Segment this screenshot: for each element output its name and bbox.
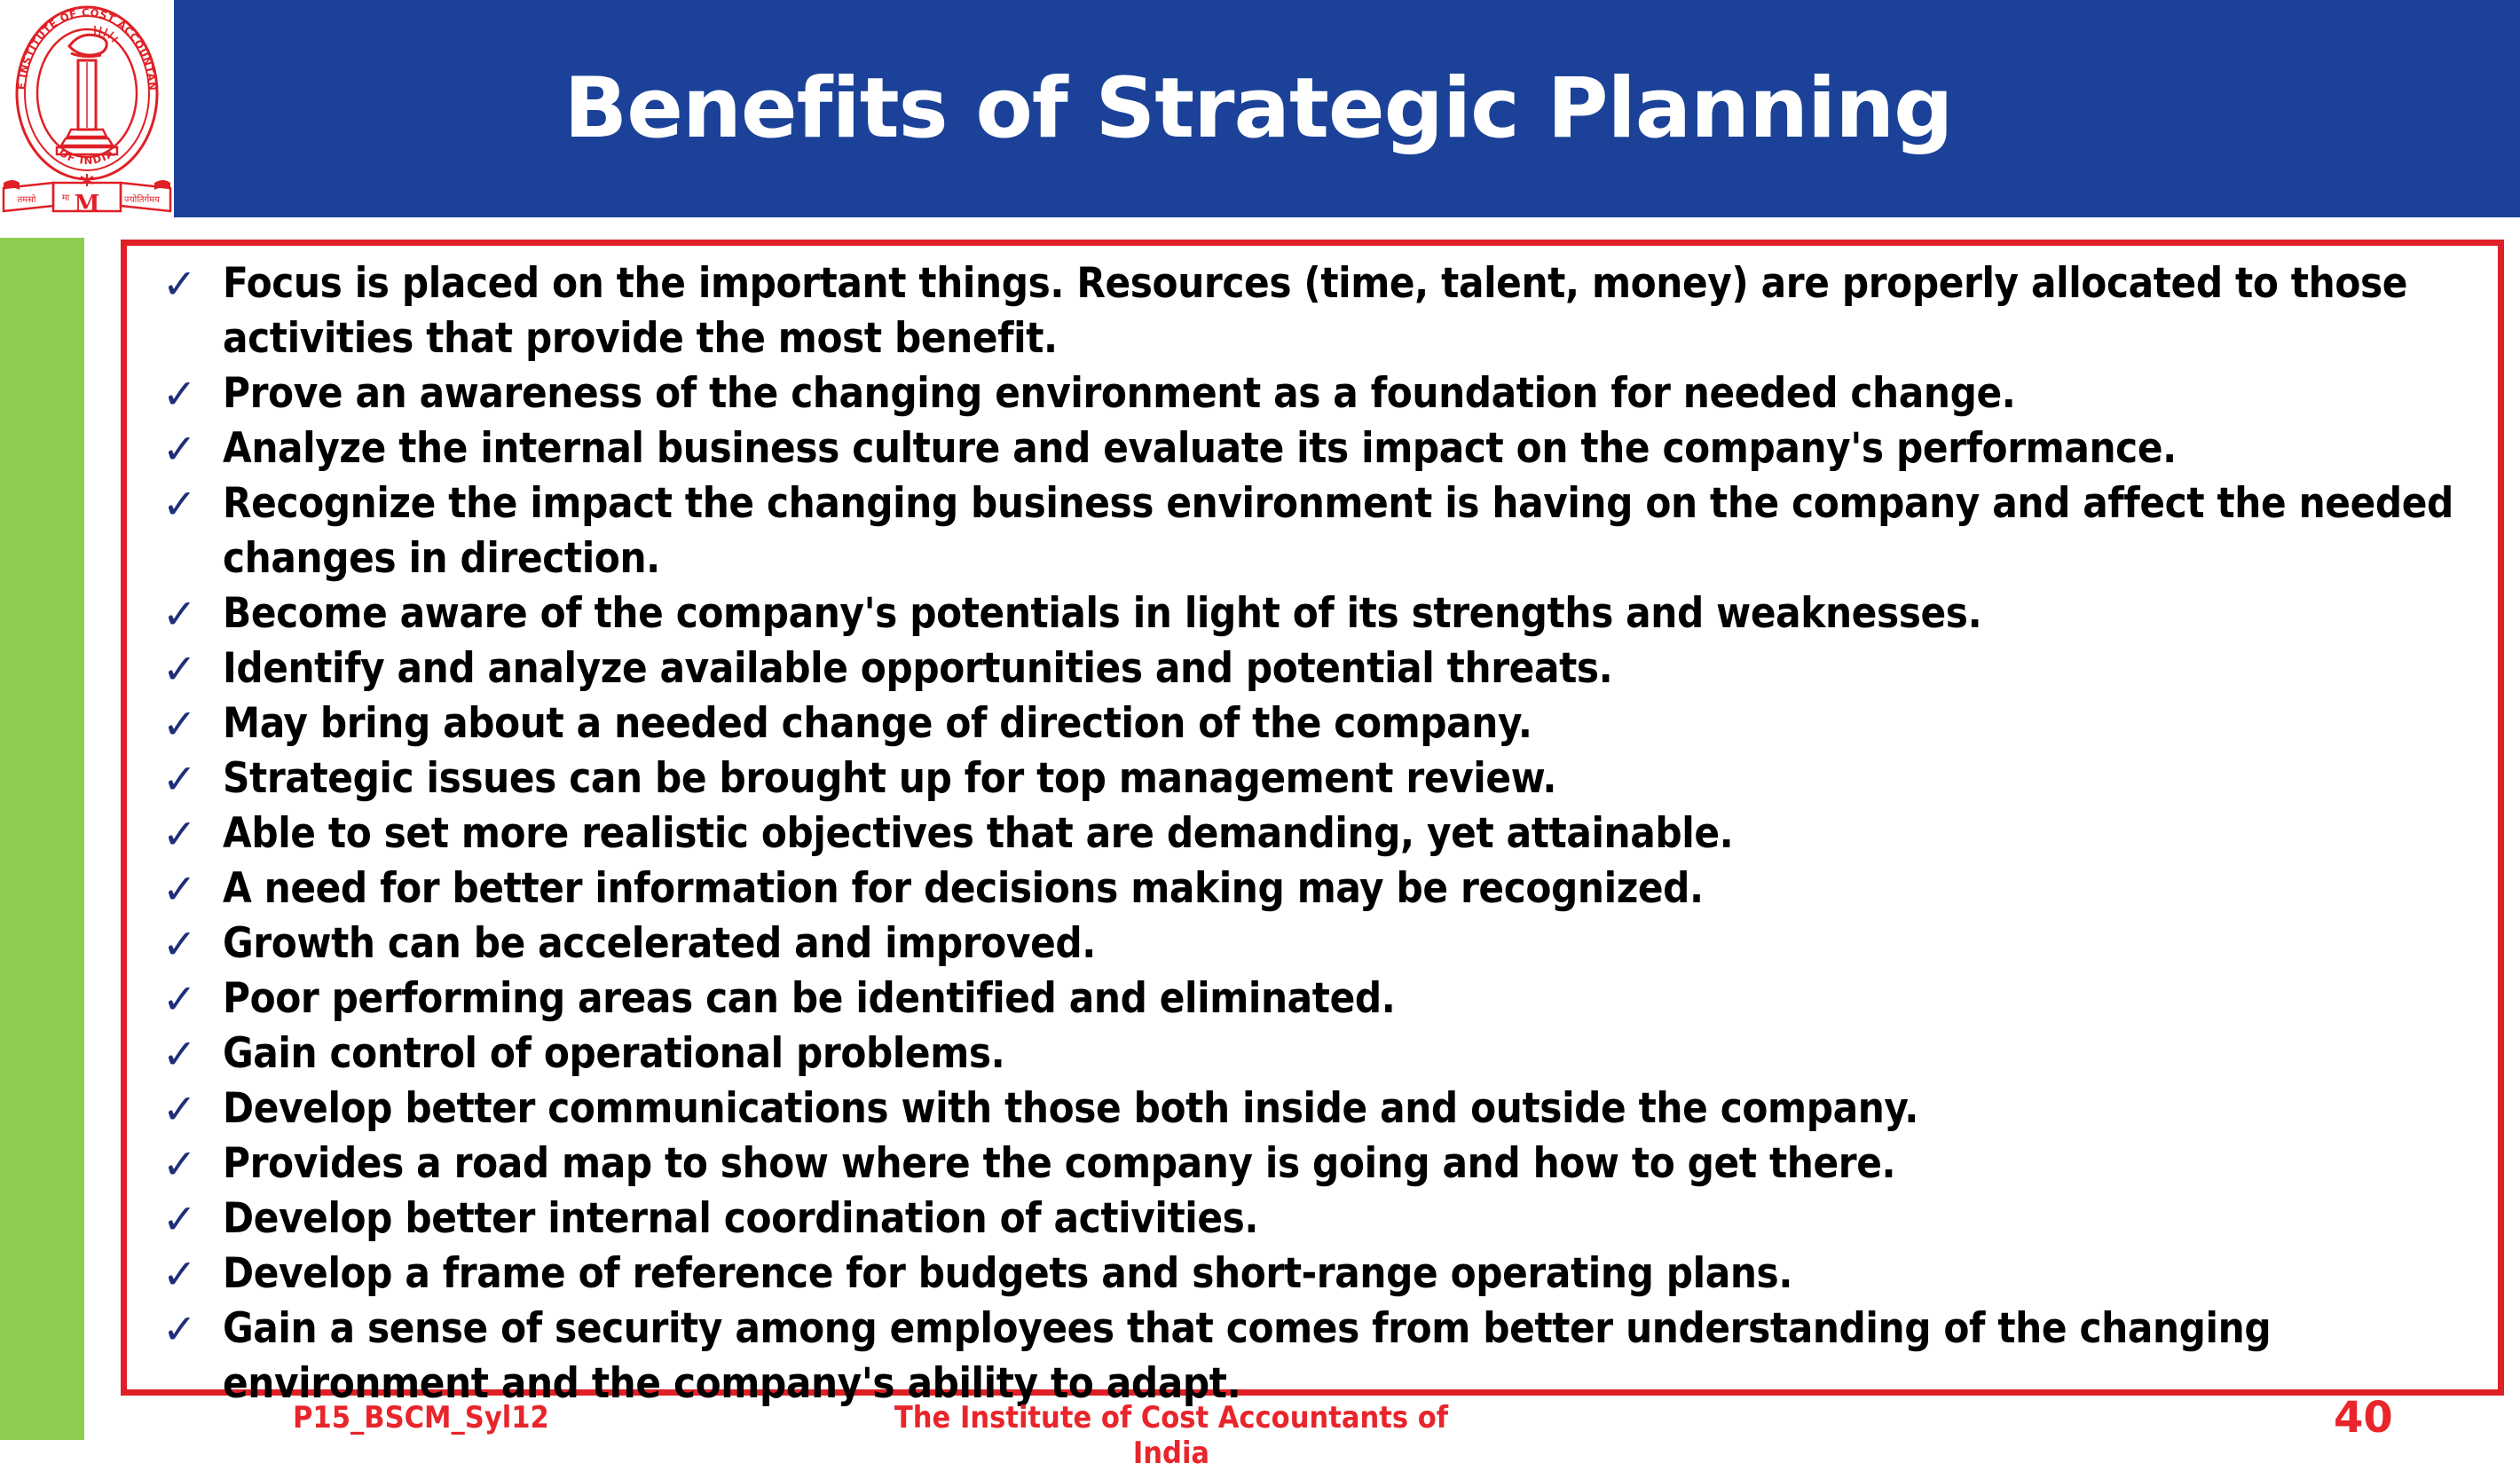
footer-page-number: 40 — [2334, 1393, 2393, 1443]
svg-text:तमसो: तमसो — [17, 194, 35, 205]
checkmark-icon: ✓ — [146, 861, 223, 916]
checkmark-icon: ✓ — [146, 751, 223, 806]
footer: P15_BSCM_Syl12 The Institute of Cost Acc… — [0, 1400, 2520, 1455]
list-item: ✓Strategic issues can be brought up for … — [146, 751, 2489, 806]
list-item: ✓Poor performing areas can be identified… — [146, 971, 2489, 1027]
svg-text:ज्योतिर्गमय: ज्योतिर्गमय — [124, 194, 160, 205]
list-item: ✓Analyze the internal business culture a… — [146, 421, 2489, 476]
green-accent-sidebar — [0, 238, 84, 1440]
list-item-label: May bring about a needed change of direc… — [223, 696, 2489, 751]
bullet-list: ✓Focus is placed on the important things… — [146, 256, 2489, 1412]
list-item: ✓Develop a frame of reference for budget… — [146, 1247, 2489, 1302]
checkmark-icon: ✓ — [146, 1247, 223, 1302]
checkmark-icon: ✓ — [146, 696, 223, 751]
checkmark-icon: ✓ — [146, 1027, 223, 1082]
svg-text:M: M — [75, 191, 100, 217]
list-item: ✓Gain control of operational problems. — [146, 1027, 2489, 1082]
checkmark-icon: ✓ — [146, 476, 223, 531]
list-item: ✓Prove an awareness of the changing envi… — [146, 366, 2489, 421]
list-item: ✓Become aware of the company's potential… — [146, 586, 2489, 641]
list-item-label: Able to set more realistic objectives th… — [223, 806, 2489, 861]
list-item: ✓May bring about a needed change of dire… — [146, 696, 2489, 751]
list-item-label: Recognize the impact the changing busine… — [223, 476, 2489, 586]
list-item: ✓Growth can be accelerated and improved. — [146, 916, 2489, 971]
list-item-label: Gain a sense of security among employees… — [223, 1302, 2489, 1412]
list-item: ✓Identify and analyze available opportun… — [146, 641, 2489, 696]
list-item-label: Analyze the internal business culture an… — [223, 421, 2489, 476]
content-panel: ✓Focus is placed on the important things… — [121, 240, 2504, 1396]
checkmark-icon: ✓ — [146, 1302, 223, 1357]
list-item-label: Develop a frame of reference for budgets… — [223, 1247, 2489, 1302]
list-item-label: Gain control of operational problems. — [223, 1027, 2489, 1082]
list-item-label: Develop better communications with those… — [223, 1082, 2489, 1137]
checkmark-icon: ✓ — [146, 256, 223, 311]
footer-institute-name: The Institute of Cost Accountants of Ind… — [852, 1400, 1491, 1471]
list-item-label: Strategic issues can be brought up for t… — [223, 751, 2489, 806]
list-item: ✓Provides a road map to show where the c… — [146, 1137, 2489, 1192]
checkmark-icon: ✓ — [146, 971, 223, 1027]
checkmark-icon: ✓ — [146, 1082, 223, 1137]
logo-area: THE INSTITUTE OF COST ACCOUNTANTS OF IND… — [0, 0, 174, 222]
list-item-label: Provides a road map to show where the co… — [223, 1137, 2489, 1192]
list-item-label: A need for better information for decisi… — [223, 861, 2489, 916]
list-item: ✓Able to set more realistic objectives t… — [146, 806, 2489, 861]
list-item-label: Prove an awareness of the changing envir… — [223, 366, 2489, 421]
list-item: ✓Recognize the impact the changing busin… — [146, 476, 2489, 586]
svg-text:OF INDIA: OF INDIA — [57, 146, 117, 167]
page-title: Benefits of Strategic Planning — [174, 0, 2343, 217]
checkmark-icon: ✓ — [146, 916, 223, 971]
checkmark-icon: ✓ — [146, 641, 223, 696]
svg-text:मा: मा — [62, 193, 70, 203]
list-item: ✓Gain a sense of security among employee… — [146, 1302, 2489, 1412]
list-item: ✓Focus is placed on the important things… — [146, 256, 2489, 366]
footer-course-code: P15_BSCM_Syl12 — [293, 1400, 549, 1436]
checkmark-icon: ✓ — [146, 366, 223, 421]
checkmark-icon: ✓ — [146, 1137, 223, 1192]
list-item-label: Growth can be accelerated and improved. — [223, 916, 2489, 971]
list-item: ✓Develop better communications with thos… — [146, 1082, 2489, 1137]
checkmark-icon: ✓ — [146, 1192, 223, 1247]
list-item-label: Poor performing areas can be identified … — [223, 971, 2489, 1027]
list-item-label: Focus is placed on the important things.… — [223, 256, 2489, 366]
list-item-label: Develop better internal coordination of … — [223, 1192, 2489, 1247]
checkmark-icon: ✓ — [146, 586, 223, 641]
institute-logo-icon: THE INSTITUTE OF COST ACCOUNTANTS OF IND… — [0, 0, 174, 222]
list-item: ✓Develop better internal coordination of… — [146, 1192, 2489, 1247]
list-item-label: Identify and analyze available opportuni… — [223, 641, 2489, 696]
checkmark-icon: ✓ — [146, 806, 223, 861]
list-item-label: Become aware of the company's potentials… — [223, 586, 2489, 641]
checkmark-icon: ✓ — [146, 421, 223, 476]
list-item: ✓A need for better information for decis… — [146, 861, 2489, 916]
